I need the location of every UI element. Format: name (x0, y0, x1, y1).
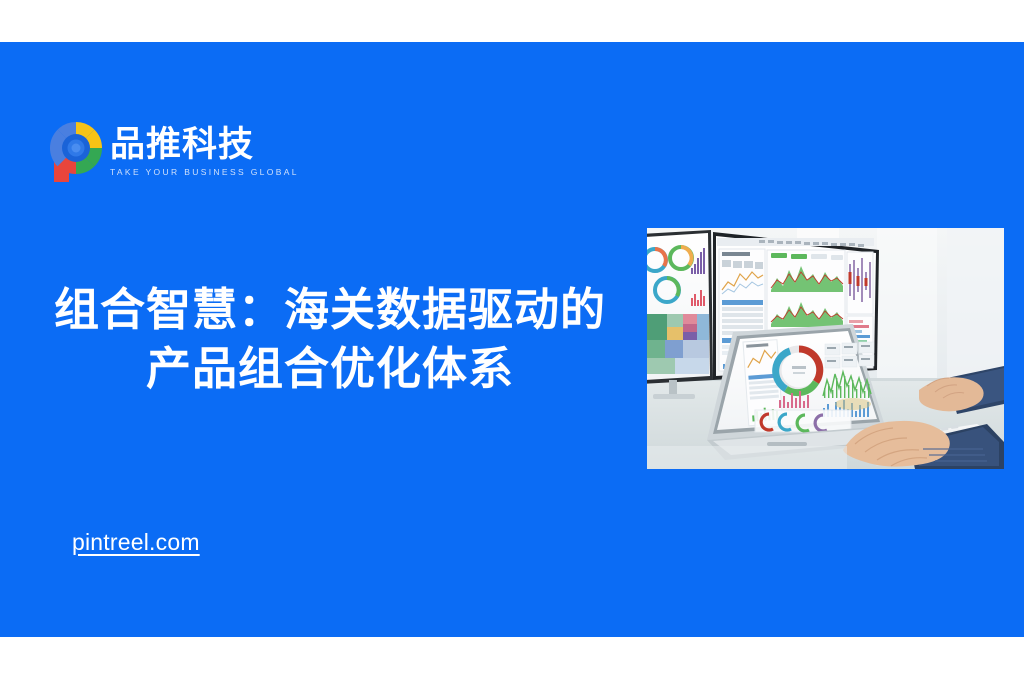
brand-logo-text: 品推科技 TAKE YOUR BUSINESS GLOBAL (110, 125, 299, 177)
brand-logo[interactable]: 品推科技 TAKE YOUR BUSINESS GLOBAL (48, 120, 299, 182)
slide-root: 品推科技 TAKE YOUR BUSINESS GLOBAL 组合智慧：海关数据… (0, 0, 1024, 683)
analytics-dashboard-photo (647, 228, 1004, 469)
page-title-line-2: 产品组合优化体系 (30, 339, 630, 398)
pintreel-logo-mark-icon (48, 120, 104, 182)
blue-canvas: 品推科技 TAKE YOUR BUSINESS GLOBAL 组合智慧：海关数据… (0, 42, 1024, 637)
page-title-line-1: 组合智慧：海关数据驱动的 (30, 280, 630, 339)
site-url-link[interactable]: pintreel.com (72, 529, 200, 556)
brand-tagline: TAKE YOUR BUSINESS GLOBAL (110, 167, 299, 177)
page-title: 组合智慧：海关数据驱动的 产品组合优化体系 (30, 280, 630, 399)
brand-name-cn: 品推科技 (110, 127, 299, 164)
